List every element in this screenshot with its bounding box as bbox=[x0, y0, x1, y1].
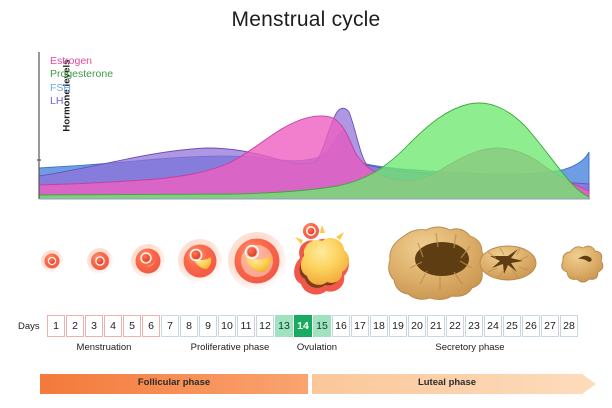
phase-bars: Follicular phase Luteal phase bbox=[0, 368, 612, 400]
day-cell-8[interactable]: 8 bbox=[180, 315, 198, 337]
day-cell-28[interactable]: 28 bbox=[560, 315, 578, 337]
day-cell-21[interactable]: 21 bbox=[427, 315, 445, 337]
day-cell-23[interactable]: 23 bbox=[465, 315, 483, 337]
day-cell-16[interactable]: 16 bbox=[332, 315, 350, 337]
day-cell-27[interactable]: 27 bbox=[541, 315, 559, 337]
secondary-follicle bbox=[131, 244, 165, 278]
day-cell-3[interactable]: 3 bbox=[85, 315, 103, 337]
follicular-phase-label: Follicular phase bbox=[40, 377, 308, 388]
days-label: Days bbox=[18, 321, 47, 332]
corpus-luteum bbox=[389, 227, 485, 300]
day-cell-13[interactable]: 13 bbox=[275, 315, 293, 337]
page-title: Menstrual cycle bbox=[0, 8, 612, 32]
day-cell-15[interactable]: 15 bbox=[313, 315, 331, 337]
corpus-albicans bbox=[562, 246, 603, 282]
subphase-label-secretory-phase: Secretory phase bbox=[410, 342, 530, 353]
subphase-label-menstruation: Menstruation bbox=[44, 342, 164, 353]
day-cell-1[interactable]: 1 bbox=[47, 315, 65, 337]
day-cell-2[interactable]: 2 bbox=[66, 315, 84, 337]
hormone-chart: Hormone levels Estrogen Proge bbox=[24, 52, 590, 200]
day-cell-5[interactable]: 5 bbox=[123, 315, 141, 337]
day-cell-7[interactable]: 7 bbox=[161, 315, 179, 337]
day-cell-14[interactable]: 14 bbox=[294, 315, 312, 337]
day-cell-26[interactable]: 26 bbox=[522, 315, 540, 337]
days-strip: Days 12345678910111213141516171819202122… bbox=[18, 313, 596, 339]
day-cell-24[interactable]: 24 bbox=[484, 315, 502, 337]
graafian-follicle bbox=[228, 232, 286, 290]
day-cell-12[interactable]: 12 bbox=[256, 315, 274, 337]
subphase-label-ovulation: Ovulation bbox=[257, 342, 377, 353]
day-cell-18[interactable]: 18 bbox=[370, 315, 388, 337]
follicle-illustration-row bbox=[0, 206, 612, 306]
day-cell-17[interactable]: 17 bbox=[351, 315, 369, 337]
luteal-phase-label: Luteal phase bbox=[312, 377, 582, 388]
day-cell-22[interactable]: 22 bbox=[446, 315, 464, 337]
hormone-plot-area bbox=[37, 52, 590, 200]
day-cell-4[interactable]: 4 bbox=[104, 315, 122, 337]
primary-follicle bbox=[87, 248, 113, 274]
day-cell-25[interactable]: 25 bbox=[503, 315, 521, 337]
day-cell-9[interactable]: 9 bbox=[199, 315, 217, 337]
day-cell-19[interactable]: 19 bbox=[389, 315, 407, 337]
subphase-labels: MenstruationProliferative phaseOvulation… bbox=[0, 342, 612, 356]
corpus-luteum-regressing bbox=[480, 246, 536, 280]
early-antral-follicle bbox=[178, 239, 222, 283]
day-cell-11[interactable]: 11 bbox=[237, 315, 255, 337]
day-cells-container: 1234567891011121314151617181920212223242… bbox=[47, 315, 578, 337]
day-cell-10[interactable]: 10 bbox=[218, 315, 236, 337]
day-cell-20[interactable]: 20 bbox=[408, 315, 426, 337]
primordial-follicle bbox=[41, 250, 63, 272]
ovulation-burst bbox=[294, 223, 349, 295]
day-cell-6[interactable]: 6 bbox=[142, 315, 160, 337]
